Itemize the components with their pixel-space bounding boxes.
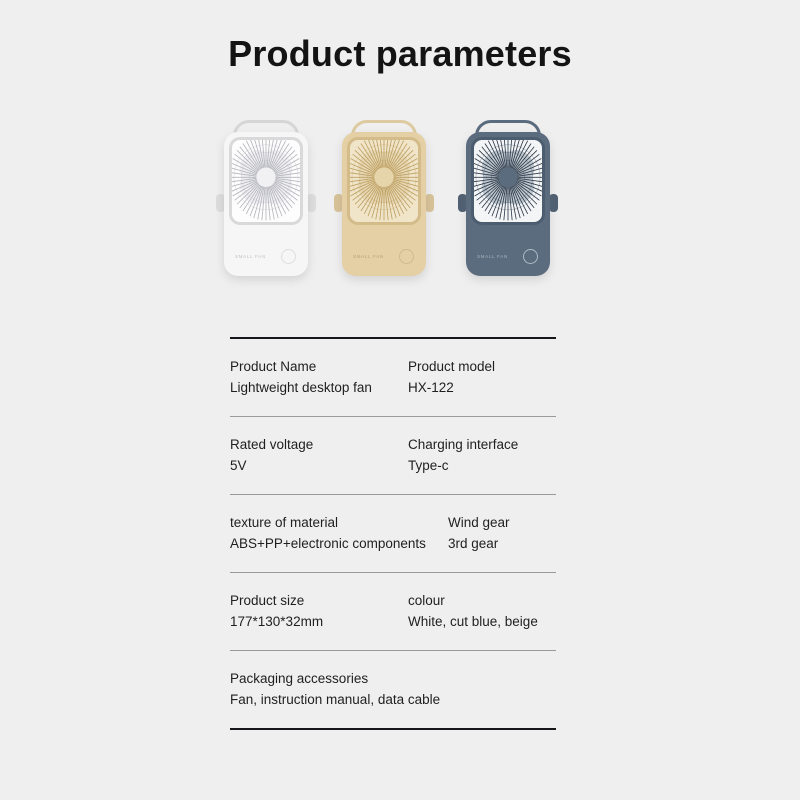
fan-hinge-right-icon xyxy=(425,194,434,212)
fan-hinge-right-icon xyxy=(307,194,316,212)
table-cell-right: Wind gear 3rd gear xyxy=(448,512,556,554)
table-cell-left: Product Name Lightweight desktop fan xyxy=(230,356,408,398)
fan-brand-label: SMALL FAN xyxy=(477,254,508,259)
spec-value: 177*130*32mm xyxy=(230,611,408,632)
fan-grille xyxy=(471,137,545,225)
fan-blades-icon xyxy=(232,140,300,222)
fan-blades-icon xyxy=(474,140,542,222)
spec-value: Lightweight desktop fan xyxy=(230,377,408,398)
table-cell-right: Charging interface Type-c xyxy=(408,434,556,476)
spec-key: texture of material xyxy=(230,512,448,533)
spec-value: Fan, instruction manual, data cable xyxy=(230,689,556,710)
spec-key: colour xyxy=(408,590,556,611)
fan-power-button xyxy=(523,249,538,264)
table-cell-left: Rated voltage 5V xyxy=(230,434,408,476)
table-cell-right: colour White, cut blue, beige xyxy=(408,590,556,632)
fan-grille xyxy=(229,137,303,225)
spec-key: Packaging accessories xyxy=(230,668,556,689)
spec-key: Charging interface xyxy=(408,434,556,455)
table-cell-right: Product model HX-122 xyxy=(408,356,556,398)
product-image-gallery: SMALL FAN SMALL FAN SMALL FAN xyxy=(212,118,572,288)
table-row: texture of material ABS+PP+electronic co… xyxy=(230,495,556,573)
fan-blades-icon xyxy=(350,140,418,222)
fan-brand-label: SMALL FAN xyxy=(235,254,266,259)
fan-body: SMALL FAN xyxy=(342,132,426,276)
table-row: Product Name Lightweight desktop fan Pro… xyxy=(230,339,556,417)
spec-value: White, cut blue, beige xyxy=(408,611,556,632)
spec-key: Wind gear xyxy=(448,512,556,533)
table-cell-left: texture of material ABS+PP+electronic co… xyxy=(230,512,448,554)
table-cell-left: Packaging accessories Fan, instruction m… xyxy=(230,668,556,710)
fan-power-button xyxy=(399,249,414,264)
spec-key: Product model xyxy=(408,356,556,377)
fan-grille xyxy=(347,137,421,225)
table-cell-left: Product size 177*130*32mm xyxy=(230,590,408,632)
spec-key: Product Name xyxy=(230,356,408,377)
spec-value: HX-122 xyxy=(408,377,556,398)
product-image-white-fan: SMALL FAN xyxy=(220,118,312,278)
product-parameters-table: Product Name Lightweight desktop fan Pro… xyxy=(230,337,556,730)
fan-brand-label: SMALL FAN xyxy=(353,254,384,259)
spec-value: Type-c xyxy=(408,455,556,476)
page-title: Product parameters xyxy=(0,33,800,75)
fan-hinge-right-icon xyxy=(549,194,558,212)
spec-key: Rated voltage xyxy=(230,434,408,455)
table-row: Packaging accessories Fan, instruction m… xyxy=(230,651,556,728)
fan-body: SMALL FAN xyxy=(466,132,550,276)
spec-key: Product size xyxy=(230,590,408,611)
table-row: Rated voltage 5V Charging interface Type… xyxy=(230,417,556,495)
spec-value: ABS+PP+electronic components xyxy=(230,533,448,554)
fan-power-button xyxy=(281,249,296,264)
spec-value: 3rd gear xyxy=(448,533,556,554)
product-image-beige-fan: SMALL FAN xyxy=(338,118,430,278)
spec-value: 5V xyxy=(230,455,408,476)
product-image-cut-blue-fan: SMALL FAN xyxy=(462,118,554,278)
table-row: Product size 177*130*32mm colour White, … xyxy=(230,573,556,651)
fan-body: SMALL FAN xyxy=(224,132,308,276)
